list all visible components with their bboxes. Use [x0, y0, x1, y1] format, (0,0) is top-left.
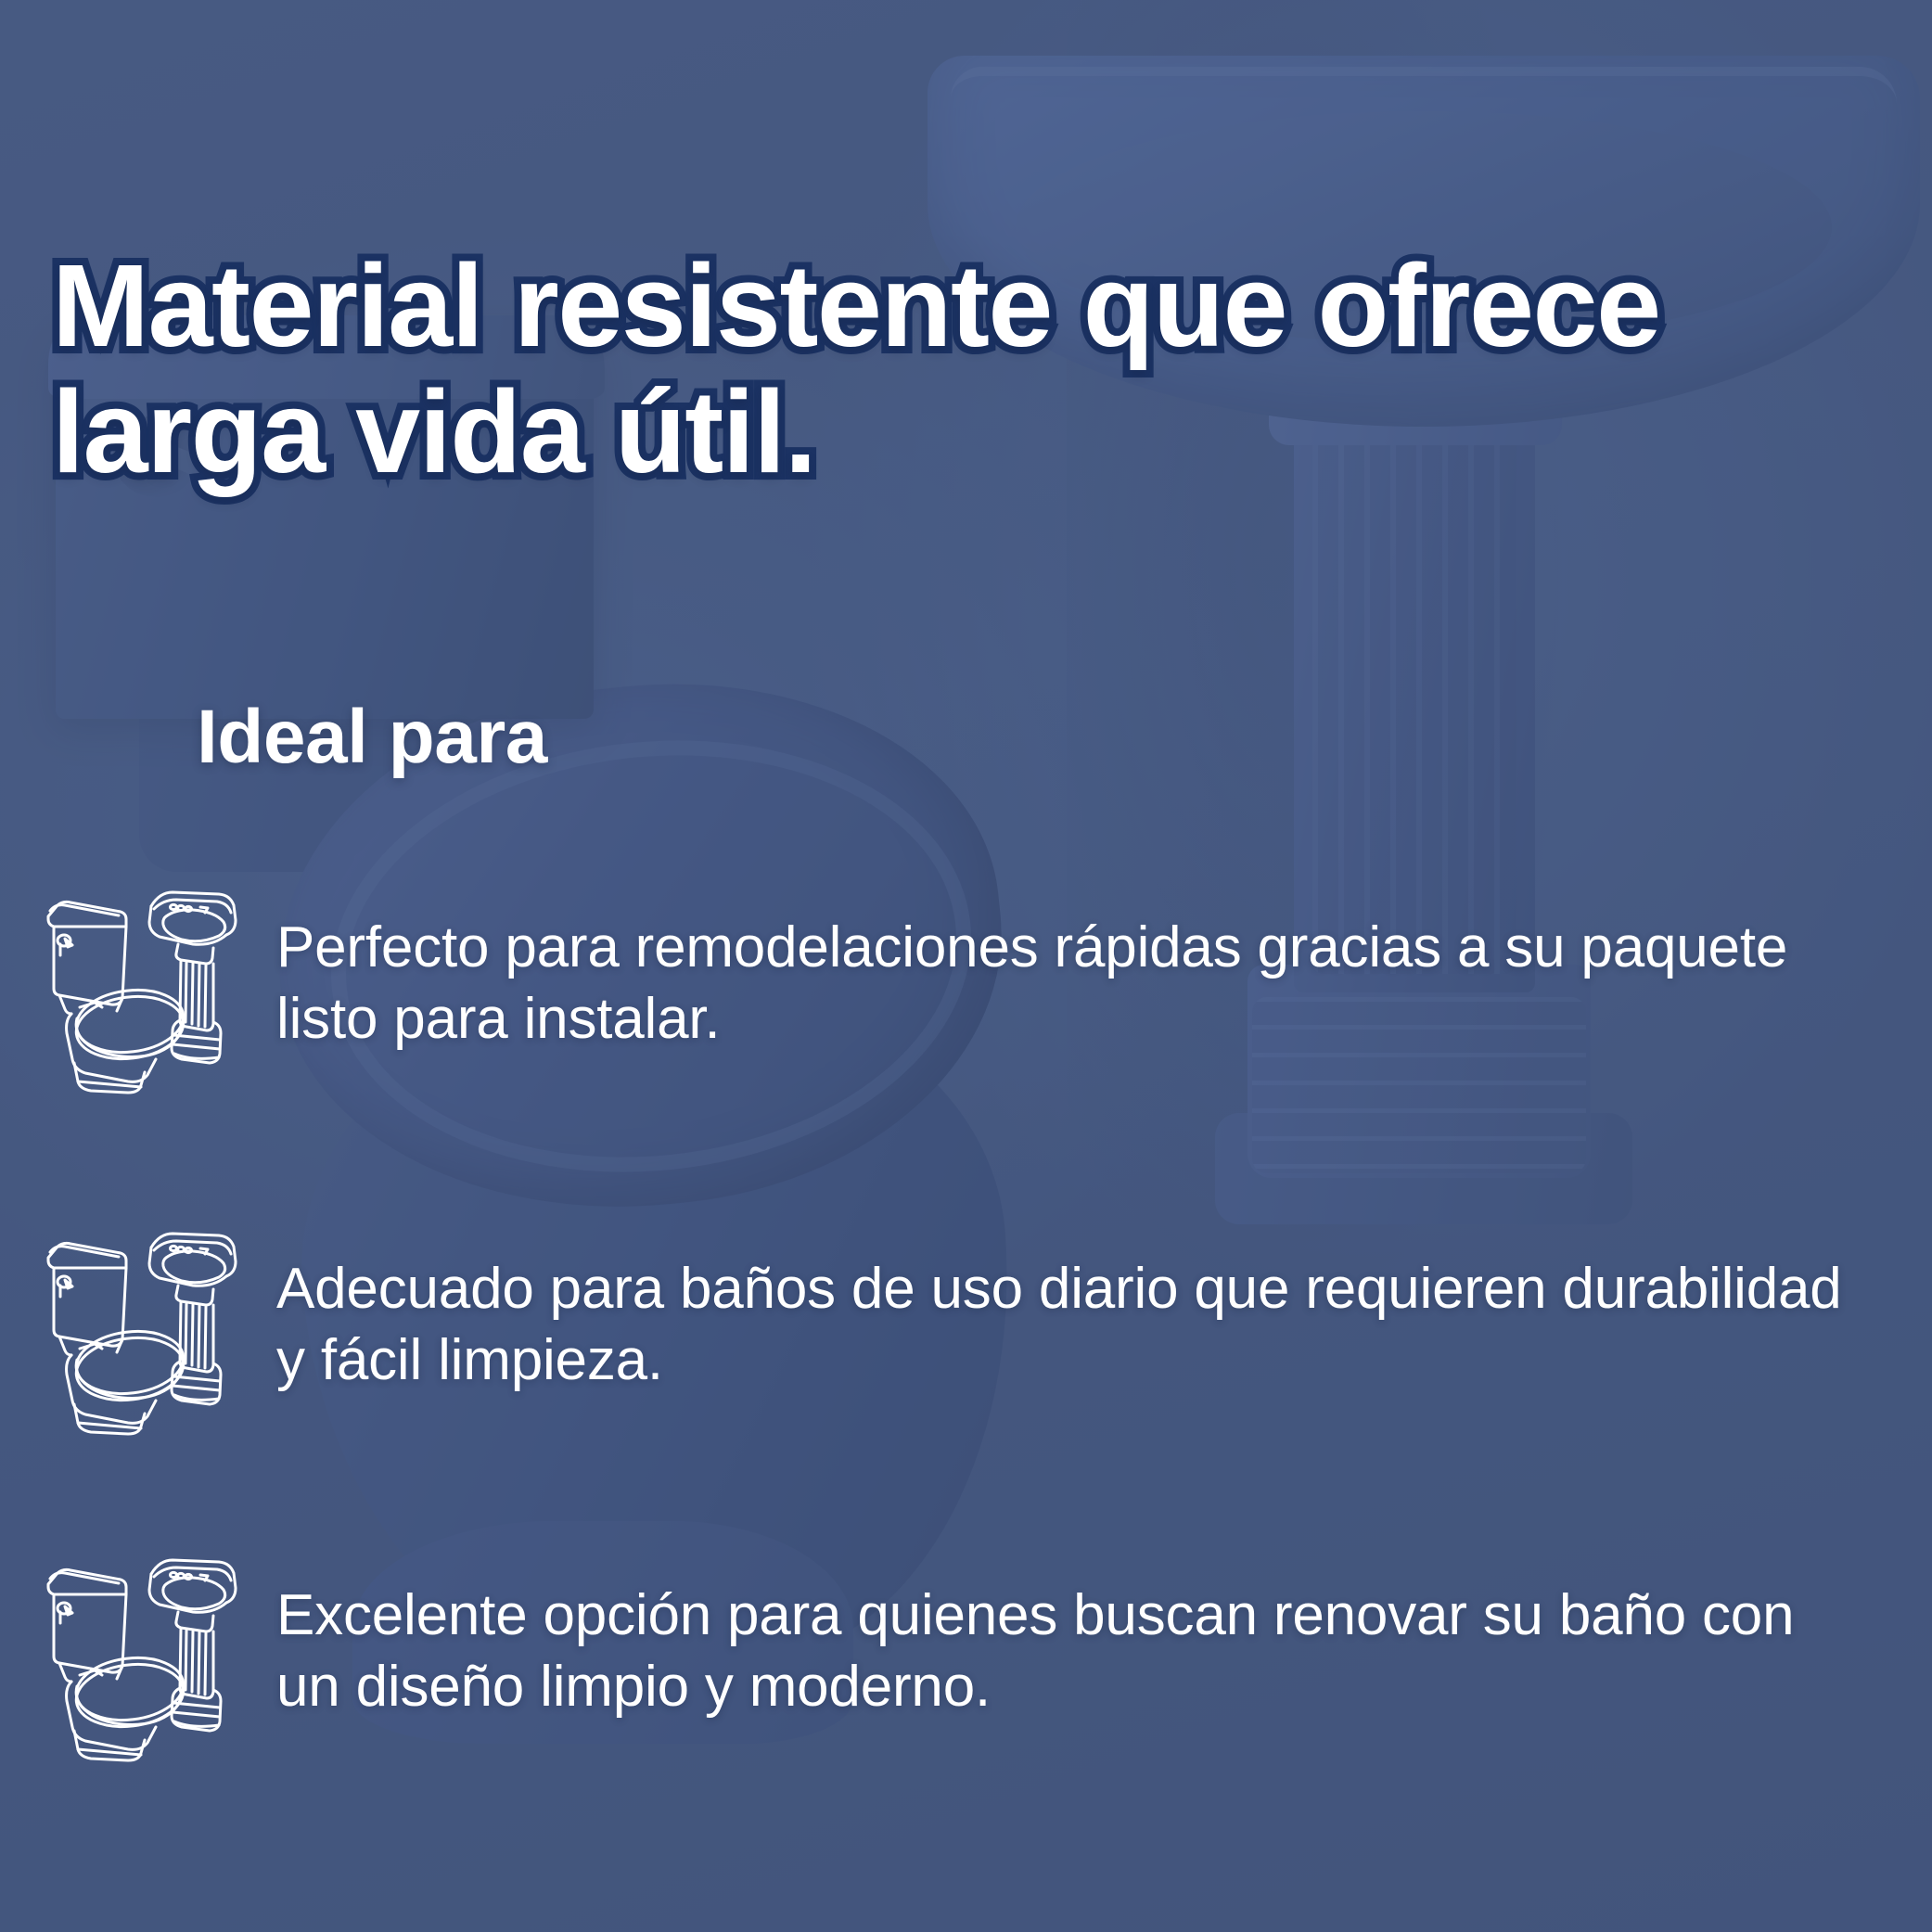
toilet-and-pedestal-sink-icon [37, 1549, 243, 1762]
list-item-label: Excelente opción para quienes buscan ren… [276, 1549, 1862, 1723]
poster-content: Material resistente que ofrece larga vid… [0, 0, 1932, 1932]
toilet-and-pedestal-sink-icon [37, 881, 243, 1094]
promo-poster: Material resistente que ofrece larga vid… [0, 0, 1932, 1932]
page-title: Material resistente que ofrece larga vid… [52, 243, 1898, 495]
list-item: Excelente opción para quienes buscan ren… [37, 1549, 1901, 1762]
toilet-and-pedestal-sink-icon [37, 1222, 243, 1436]
list-item-label: Perfecto para remodelaciones rápidas gra… [276, 881, 1862, 1056]
section-subtitle: Ideal para [197, 694, 547, 781]
list-item: Perfecto para remodelaciones rápidas gra… [37, 881, 1901, 1094]
list-item-label: Adecuado para baños de uso diario que re… [276, 1222, 1862, 1397]
list-item: Adecuado para baños de uso diario que re… [37, 1222, 1901, 1436]
